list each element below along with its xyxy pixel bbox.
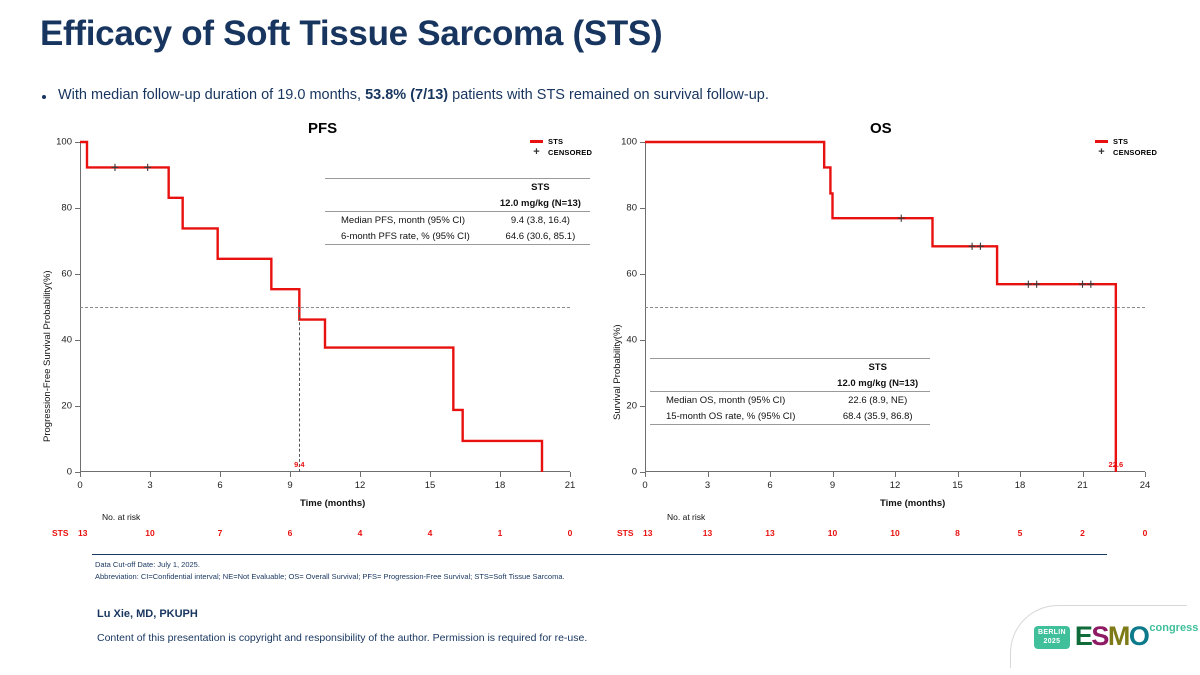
x-tick-label: 24 — [1140, 480, 1151, 491]
logo-letter-m: M — [1108, 621, 1129, 651]
y-tick-label: 0 — [632, 467, 637, 478]
x-tick-mark — [1083, 472, 1084, 477]
x-tick-mark — [290, 472, 291, 477]
copyright-notice: Content of this presentation is copyrigh… — [97, 632, 587, 644]
logo-year: 2025 — [1038, 638, 1066, 647]
stat-row-value: 22.6 (8.9, NE) — [825, 392, 930, 409]
os-x-axis-title: Time (months) — [880, 498, 945, 509]
median-reference-line — [80, 307, 570, 308]
stat-table-row: Median OS, month (95% CI)22.6 (8.9, NE) — [650, 392, 930, 409]
stat-group-subheader: 12.0 mg/kg (N=13) — [491, 195, 590, 212]
os-chart-title: OS — [870, 120, 990, 137]
x-tick-mark — [645, 472, 646, 477]
y-tick-mark — [640, 142, 645, 143]
y-tick-mark — [75, 142, 80, 143]
y-tick-label: 20 — [626, 401, 637, 412]
censored-tick-marker — [1079, 281, 1086, 288]
risk-count-value: 2 — [1080, 528, 1085, 538]
stat-row-label: Median OS, month (95% CI) — [650, 392, 825, 409]
x-tick-label: 18 — [495, 480, 506, 491]
censored-tick-marker — [977, 243, 984, 250]
y-tick-mark — [640, 274, 645, 275]
x-tick-label: 3 — [147, 480, 152, 491]
x-tick-mark — [150, 472, 151, 477]
x-tick-label: 18 — [1015, 480, 1026, 491]
censored-tick-marker — [1025, 281, 1032, 288]
stat-table-row: 6-month PFS rate, % (95% CI)64.6 (30.6, … — [325, 228, 590, 245]
x-tick-mark — [430, 472, 431, 477]
pfs-risk-row-label: STS — [52, 528, 69, 538]
censored-tick-marker — [968, 243, 975, 250]
x-tick-mark — [895, 472, 896, 477]
pfs-chart-panel: PFS STS + CENSORED Progression-Free Surv… — [30, 120, 595, 540]
x-tick-mark — [80, 472, 81, 477]
censored-tick-marker — [898, 215, 905, 222]
risk-count-value: 1 — [498, 528, 503, 538]
footnote-data-cutoff: Data Cut-off Date: July 1, 2025. — [95, 560, 200, 569]
x-tick-label: 21 — [1077, 480, 1088, 491]
x-tick-mark — [958, 472, 959, 477]
pfs-y-axis-title: Progression-Free Survival Probability(%) — [42, 270, 53, 442]
y-tick-mark — [640, 340, 645, 341]
risk-count-value: 8 — [955, 528, 960, 538]
logo-congress-word: congress — [1149, 622, 1198, 634]
x-tick-mark — [1020, 472, 1021, 477]
x-tick-mark — [708, 472, 709, 477]
y-tick-mark — [640, 406, 645, 407]
median-value-label: 9.4 — [294, 460, 304, 469]
risk-count-value: 4 — [428, 528, 433, 538]
stat-row-label: 6-month PFS rate, % (95% CI) — [325, 228, 491, 245]
stat-group-header: STS — [825, 359, 930, 376]
stat-row-label: 15-month OS rate, % (95% CI) — [650, 408, 825, 425]
stat-table-subgroup-row: 12.0 mg/kg (N=13) — [650, 375, 930, 392]
risk-count-value: 5 — [1018, 528, 1023, 538]
x-tick-label: 9 — [287, 480, 292, 491]
risk-count-value: 10 — [145, 528, 154, 538]
summary-bullet-text: With median follow-up duration of 19.0 m… — [58, 86, 769, 105]
stat-group-subheader: 12.0 mg/kg (N=13) — [825, 375, 930, 392]
stat-row-value: 68.4 (35.9, 86.8) — [825, 408, 930, 425]
stat-table-subgroup-row: 12.0 mg/kg (N=13) — [325, 195, 590, 212]
y-tick-label: 60 — [61, 269, 72, 280]
risk-count-value: 7 — [218, 528, 223, 538]
risk-count-value: 6 — [288, 528, 293, 538]
stat-table-group-row: STS — [325, 179, 590, 196]
risk-count-value: 10 — [890, 528, 899, 538]
risk-count-value: 4 — [358, 528, 363, 538]
logo-city: BERLIN — [1038, 629, 1066, 638]
stat-table-row: Median PFS, month (95% CI)9.4 (3.8, 16.4… — [325, 212, 590, 229]
os-risk-title: No. at risk — [667, 512, 705, 522]
bullet-dot-icon — [42, 95, 46, 99]
median-value-label: 22.6 — [1109, 460, 1124, 469]
y-tick-label: 100 — [621, 137, 637, 148]
x-tick-label: 21 — [565, 480, 576, 491]
x-tick-label: 6 — [767, 480, 772, 491]
pfs-x-axis-title: Time (months) — [300, 498, 365, 509]
x-tick-label: 9 — [830, 480, 835, 491]
os-stat-table: STS12.0 mg/kg (N=13)Median OS, month (95… — [650, 358, 930, 425]
risk-count-value: 13 — [765, 528, 774, 538]
logo-berlin-badge: BERLIN 2025 — [1034, 626, 1070, 649]
y-tick-mark — [640, 208, 645, 209]
stat-table-row: 15-month OS rate, % (95% CI)68.4 (35.9, … — [650, 408, 930, 425]
censored-tick-marker — [111, 164, 118, 171]
page-title: Efficacy of Soft Tissue Sarcoma (STS) — [40, 14, 662, 54]
logo-letter-s: S — [1091, 621, 1108, 651]
pfs-stat-table: STS12.0 mg/kg (N=13)Median PFS, month (9… — [325, 178, 590, 245]
risk-count-value: 10 — [828, 528, 837, 538]
stat-row-value: 9.4 (3.8, 16.4) — [491, 212, 590, 229]
y-tick-label: 0 — [67, 467, 72, 478]
y-tick-label: 40 — [61, 335, 72, 346]
x-tick-mark — [570, 472, 571, 477]
y-tick-label: 60 — [626, 269, 637, 280]
y-tick-label: 40 — [626, 335, 637, 346]
x-tick-label: 15 — [952, 480, 963, 491]
risk-count-value: 13 — [78, 528, 87, 538]
stat-table-group-row: STS — [650, 359, 930, 376]
slide-root: Efficacy of Soft Tissue Sarcoma (STS) Wi… — [0, 0, 1200, 675]
x-tick-mark — [500, 472, 501, 477]
y-tick-label: 80 — [626, 203, 637, 214]
author-name: Lu Xie, MD, PKUPH — [97, 608, 198, 620]
bullet-highlight: 53.8% (7/13) — [365, 87, 448, 103]
pfs-chart-title: PFS — [308, 120, 428, 137]
x-tick-mark — [1145, 472, 1146, 477]
footnote-abbreviations: Abbreviation: CI=Confidential interval; … — [95, 572, 565, 581]
risk-count-value: 13 — [643, 528, 652, 538]
summary-bullet: With median follow-up duration of 19.0 m… — [42, 86, 769, 105]
logo-esmo-wordmark: ESMO — [1075, 623, 1149, 650]
y-tick-label: 20 — [61, 401, 72, 412]
risk-count-value: 0 — [1143, 528, 1148, 538]
logo-letter-o: O — [1129, 621, 1149, 651]
logo-letter-e: E — [1075, 621, 1092, 651]
stat-row-label: Median PFS, month (95% CI) — [325, 212, 491, 229]
y-tick-mark — [75, 208, 80, 209]
risk-count-value: 13 — [703, 528, 712, 538]
x-tick-label: 15 — [425, 480, 436, 491]
x-tick-mark — [360, 472, 361, 477]
x-tick-mark — [220, 472, 221, 477]
x-tick-label: 0 — [642, 480, 647, 491]
logo-content: BERLIN 2025 ESMO congress — [1034, 623, 1198, 650]
x-tick-label: 12 — [890, 480, 901, 491]
censored-tick-marker — [144, 164, 151, 171]
x-tick-mark — [833, 472, 834, 477]
y-tick-mark — [75, 274, 80, 275]
censored-tick-marker — [1033, 281, 1040, 288]
bullet-prefix: With median follow-up duration of 19.0 m… — [58, 87, 365, 103]
os-y-axis-title: Survival Probability(%) — [612, 324, 623, 420]
x-tick-label: 12 — [355, 480, 366, 491]
x-tick-label: 6 — [217, 480, 222, 491]
risk-count-value: 0 — [568, 528, 573, 538]
pfs-risk-title: No. at risk — [102, 512, 140, 522]
bullet-suffix: patients with STS remained on survival f… — [448, 87, 769, 103]
y-tick-label: 80 — [61, 203, 72, 214]
y-tick-mark — [75, 340, 80, 341]
median-drop-line — [299, 307, 300, 472]
x-tick-label: 0 — [77, 480, 82, 491]
os-chart-panel: OS STS + CENSORED Survival Probability(%… — [600, 120, 1175, 540]
footer-divider — [92, 554, 1107, 555]
stat-group-header: STS — [491, 179, 590, 196]
esmo-congress-logo: BERLIN 2025 ESMO congress — [1010, 605, 1186, 667]
y-tick-mark — [75, 406, 80, 407]
censored-tick-marker — [1087, 281, 1094, 288]
x-tick-mark — [770, 472, 771, 477]
x-tick-label: 3 — [705, 480, 710, 491]
stat-row-value: 64.6 (30.6, 85.1) — [491, 228, 590, 245]
os-risk-row-label: STS — [617, 528, 634, 538]
y-tick-label: 100 — [56, 137, 72, 148]
median-reference-line — [645, 307, 1145, 308]
